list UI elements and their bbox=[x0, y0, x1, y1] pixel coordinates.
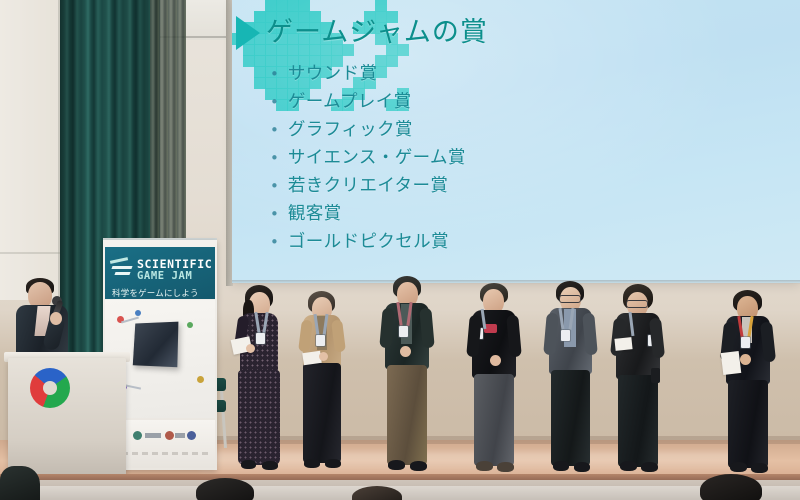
slide-bullet-item: •ゲームプレイ賞 bbox=[270, 90, 610, 115]
screen-bottom-edge bbox=[232, 280, 800, 284]
wall-panel-left bbox=[0, 0, 60, 300]
bullet-dot-icon: • bbox=[270, 174, 279, 198]
bullet-dot-icon: • bbox=[270, 62, 279, 86]
slide-bullet-label: 観客賞 bbox=[288, 202, 342, 227]
slide-bullet-item: •グラフィック賞 bbox=[270, 118, 610, 143]
speaker-hand bbox=[50, 312, 62, 325]
photo-scene: ゲームジャムの賞 •サウンド賞•ゲームプレイ賞•グラフィック賞•サイエンス・ゲー… bbox=[0, 0, 800, 500]
slide-bullet-label: サウンド賞 bbox=[288, 62, 378, 87]
banner-logo-icon bbox=[114, 272, 130, 275]
slide-title: ゲームジャムの賞 bbox=[266, 10, 488, 49]
bullet-dot-icon: • bbox=[270, 146, 279, 170]
slide-bullet-item: •サウンド賞 bbox=[270, 62, 610, 87]
slide-bullet-item: •若きクリエイター賞 bbox=[270, 174, 610, 199]
audience-head bbox=[196, 478, 254, 500]
slide-bullet-label: グラフィック賞 bbox=[288, 118, 413, 143]
slide-bullet-item: •観客賞 bbox=[270, 202, 610, 227]
banner-title-line2: GAME JAM bbox=[137, 270, 192, 282]
slide-bullet-label: ゲームプレイ賞 bbox=[288, 90, 412, 115]
bullet-dot-icon: • bbox=[270, 202, 279, 226]
bullet-dot-icon: • bbox=[270, 118, 279, 142]
wall-seam bbox=[0, 252, 60, 254]
podium bbox=[8, 358, 126, 476]
slide-bullet-label: サイエンス・ゲーム賞 bbox=[288, 146, 466, 171]
slide-bullet-label: 若きクリエイター賞 bbox=[288, 174, 448, 199]
audience-head bbox=[700, 474, 762, 500]
audience-shoulder bbox=[0, 466, 40, 500]
slide-bullet-item: •ゴールドピクセル賞 bbox=[270, 230, 610, 255]
title-arrow-icon bbox=[236, 16, 260, 50]
banner-subtitle: 科学をゲームにしよう bbox=[112, 287, 199, 299]
banner-cube-graphic bbox=[133, 322, 179, 368]
podium-logo-center bbox=[43, 381, 57, 395]
slide-bullet-item: •サイエンス・ゲーム賞 bbox=[270, 146, 610, 171]
banner-footer-text bbox=[112, 452, 208, 455]
banner-logo-icon bbox=[111, 266, 132, 269]
banner-title-line1: SCIENTIFIC bbox=[137, 257, 212, 271]
slide-bullet-label: ゴールドピクセル賞 bbox=[288, 230, 449, 255]
slide-bullet-list: •サウンド賞•ゲームプレイ賞•グラフィック賞•サイエンス・ゲーム賞•若きクリエイ… bbox=[270, 62, 610, 258]
bullet-dot-icon: • bbox=[270, 90, 279, 114]
bullet-dot-icon: • bbox=[270, 230, 279, 254]
